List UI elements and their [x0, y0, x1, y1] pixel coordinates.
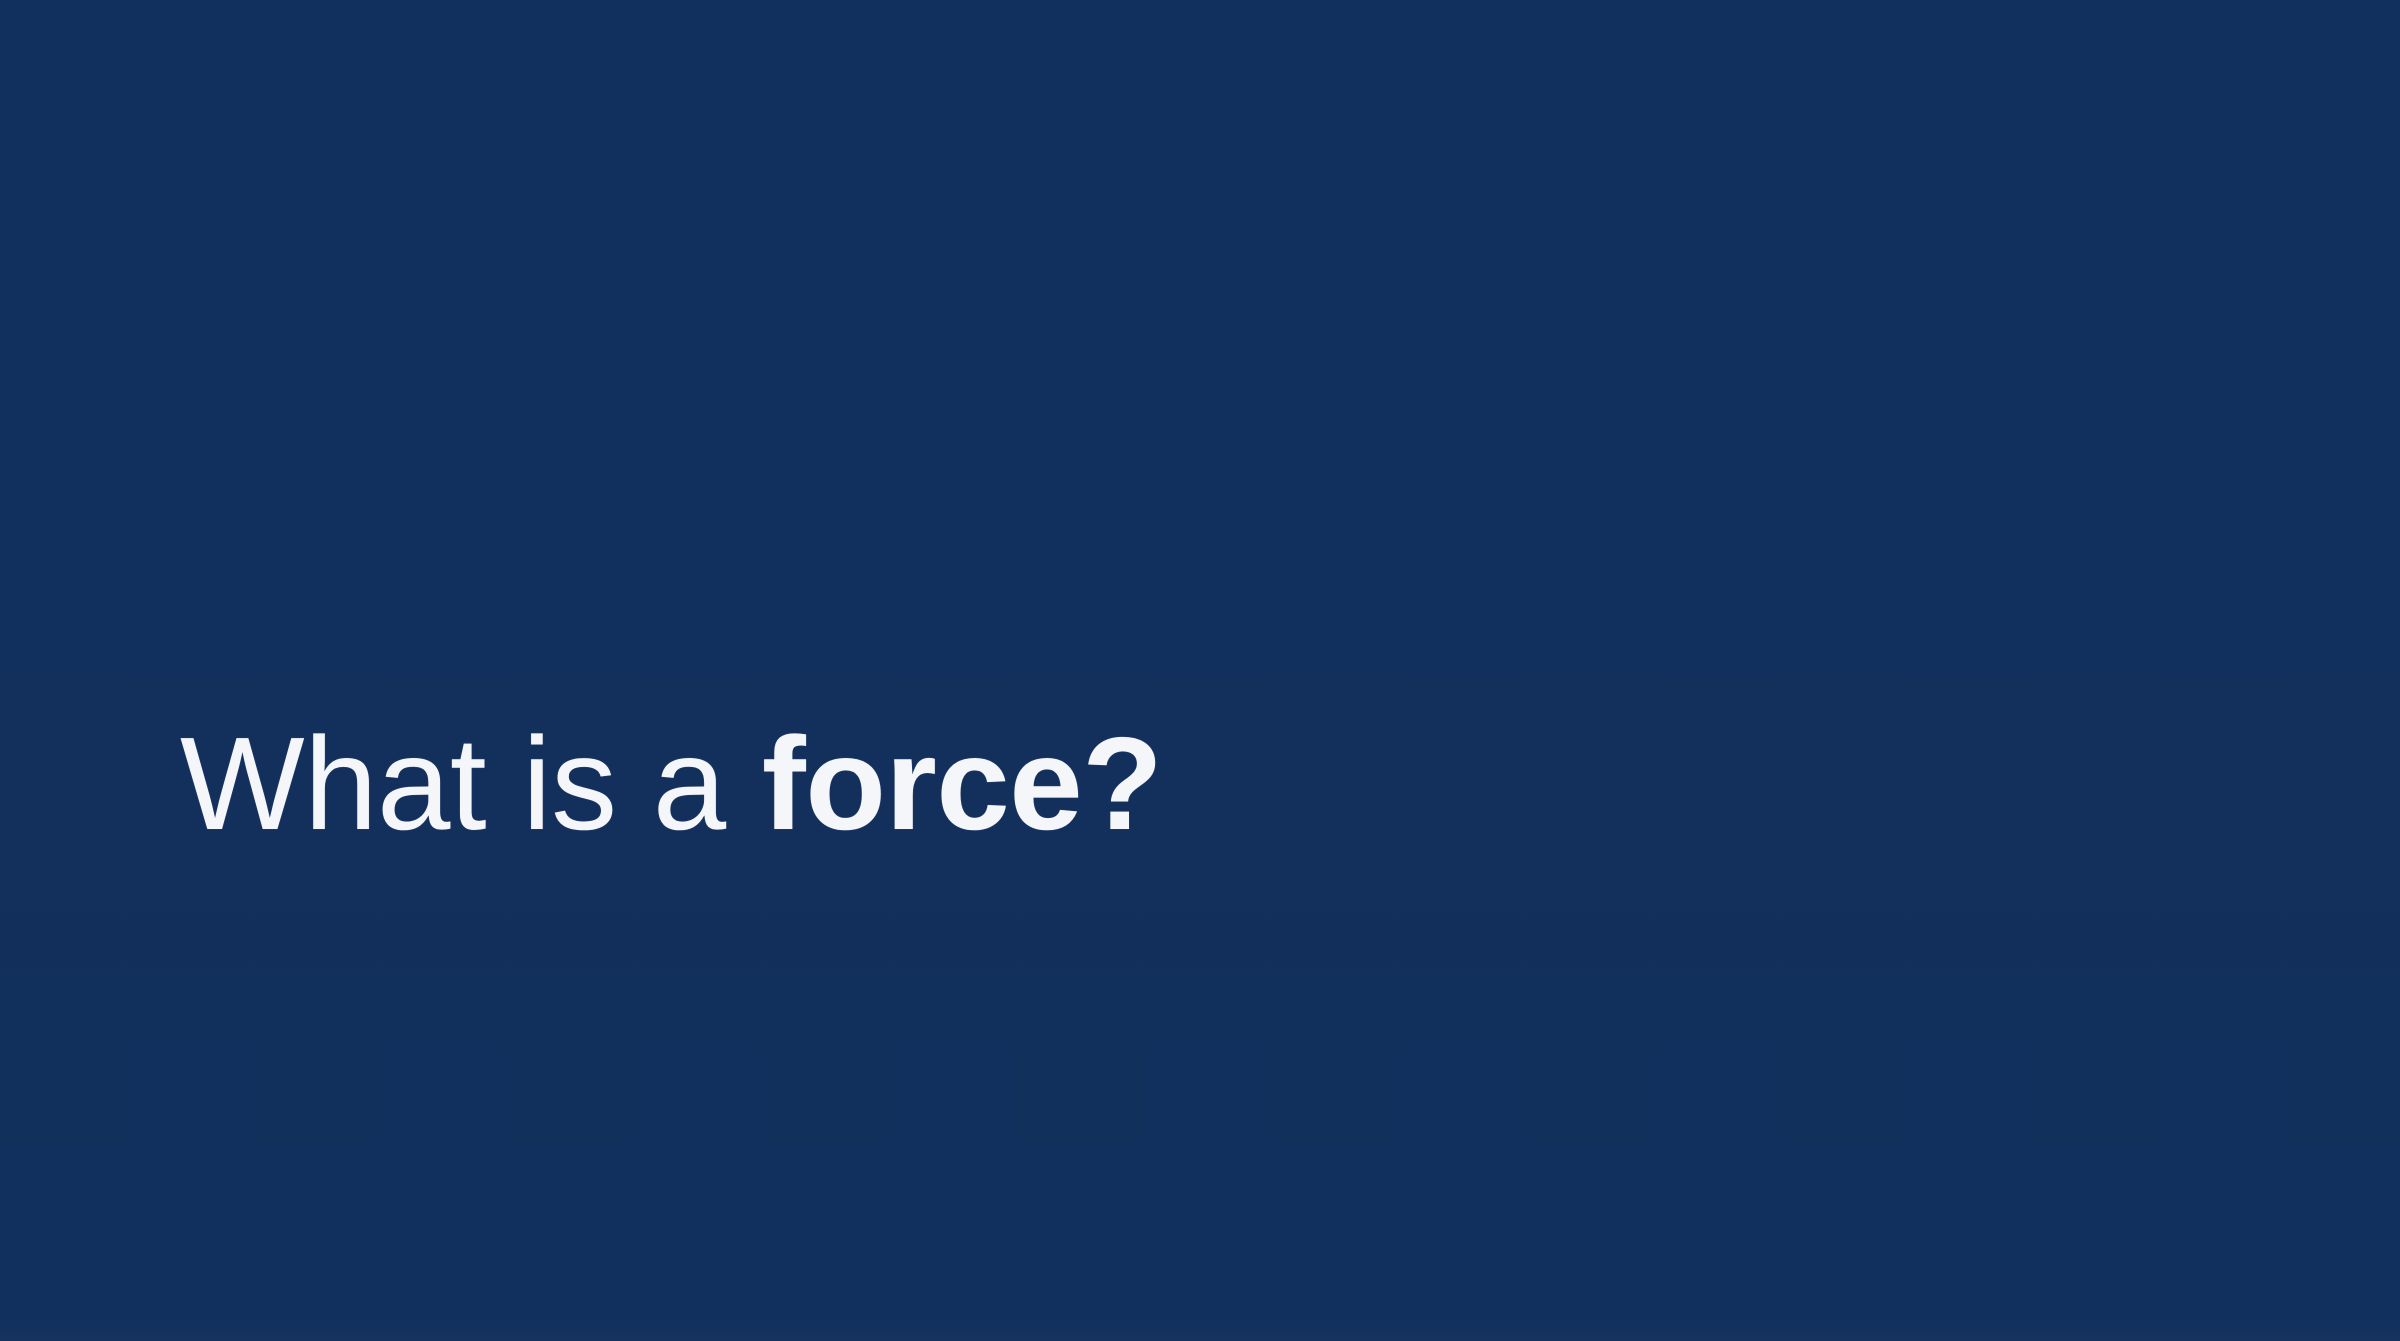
- slide-title-emphasis: force?: [762, 710, 1162, 857]
- presentation-slide: What is a force?: [0, 0, 2400, 1341]
- bottom-edge-artifact: [0, 1315, 2400, 1341]
- slide-title-block: What is a force?: [180, 718, 2220, 850]
- slide-title: What is a force?: [180, 718, 2220, 850]
- slide-title-lead: What is a: [180, 710, 762, 857]
- slide-background: [0, 0, 2400, 1341]
